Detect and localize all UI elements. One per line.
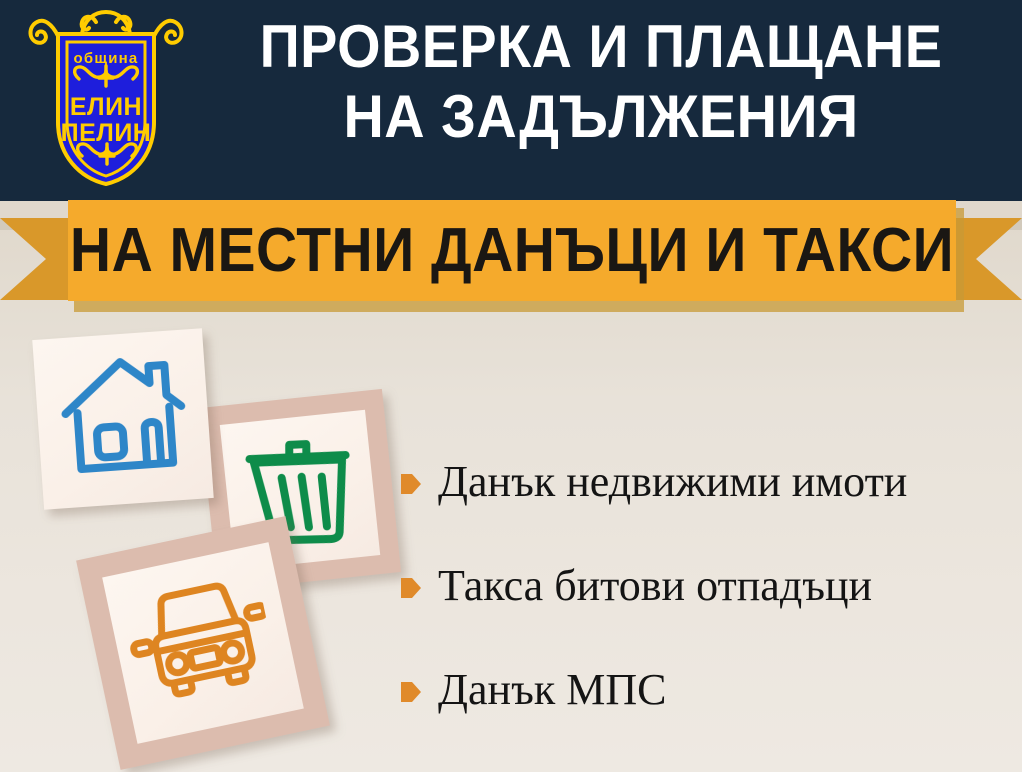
svg-text:ЕЛИН: ЕЛИН bbox=[70, 93, 142, 121]
tax-type-list: Данък недвижими имоти Такса битови отпад… bbox=[400, 430, 1015, 742]
header-title-block: ПРОВЕРКА И ПЛАЩАНЕ НА ЗАДЪЛЖЕНИЯ bbox=[196, 16, 1006, 148]
page-title-line-1: ПРОВЕРКА И ПЛАЩАНЕ bbox=[224, 16, 977, 78]
arrow-bullet-icon bbox=[400, 679, 422, 705]
page-title-line-2: НА ЗАДЪЛЖЕНИЯ bbox=[224, 86, 977, 148]
list-item-label: Данък МПС bbox=[438, 666, 666, 714]
stamp-card-vehicle-tax bbox=[76, 516, 330, 770]
list-item-label: Такса битови отпадъци bbox=[438, 562, 872, 610]
list-item[interactable]: Данък недвижими имоти bbox=[400, 430, 1015, 534]
house-icon bbox=[56, 350, 192, 481]
arrow-bullet-icon bbox=[400, 471, 422, 497]
list-item-label: Данък недвижими имоти bbox=[438, 458, 907, 506]
list-item[interactable]: Данък МПС bbox=[400, 638, 1015, 742]
poster-canvas: община ЕЛИН ПЕЛИН bbox=[0, 0, 1022, 772]
stamp-card-property-tax bbox=[9, 305, 237, 533]
list-item[interactable]: Такса битови отпадъци bbox=[400, 534, 1015, 638]
arrow-bullet-icon bbox=[400, 575, 422, 601]
header-band: община ЕЛИН ПЕЛИН bbox=[0, 0, 1022, 201]
ribbon-banner: НА МЕСТНИ ДАНЪЦИ И ТАКСИ bbox=[0, 196, 1022, 306]
ribbon-banner-face: НА МЕСТНИ ДАНЪЦИ И ТАКСИ bbox=[68, 200, 956, 301]
municipality-logo: община ЕЛИН ПЕЛИН bbox=[22, 4, 190, 192]
ribbon-banner-text: НА МЕСТНИ ДАНЪЦИ И ТАКСИ bbox=[104, 200, 921, 301]
